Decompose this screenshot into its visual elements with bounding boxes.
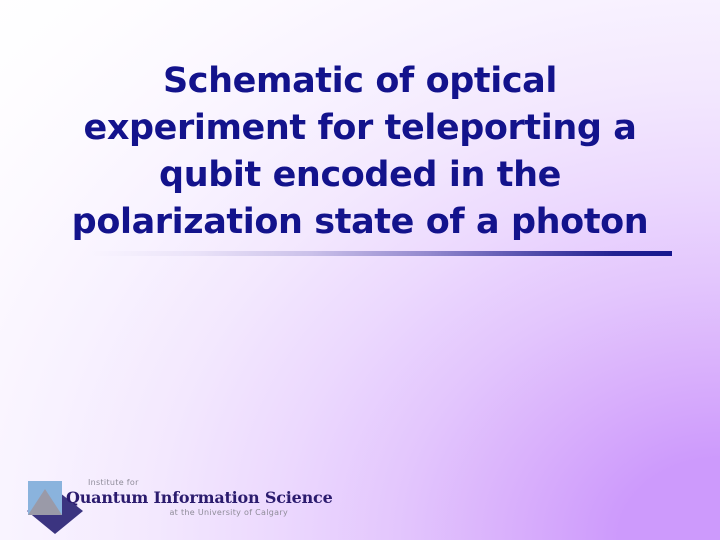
institute-logo: Institute for Quantum Information Scienc… (24, 477, 284, 537)
logo-institute-name: Quantum Information Science (66, 488, 290, 507)
logo-institute-for-text: Institute for (66, 478, 290, 488)
logo-university-tagline: at the University of Calgary (66, 508, 290, 518)
logo-wordmark: Institute for Quantum Information Scienc… (66, 478, 290, 522)
page-title: Schematic of optical experiment for tele… (36, 58, 684, 246)
title-underline-rule (88, 251, 672, 256)
title-block: Schematic of optical experiment for tele… (36, 58, 684, 246)
slide-canvas: Schematic of optical experiment for tele… (0, 0, 720, 540)
